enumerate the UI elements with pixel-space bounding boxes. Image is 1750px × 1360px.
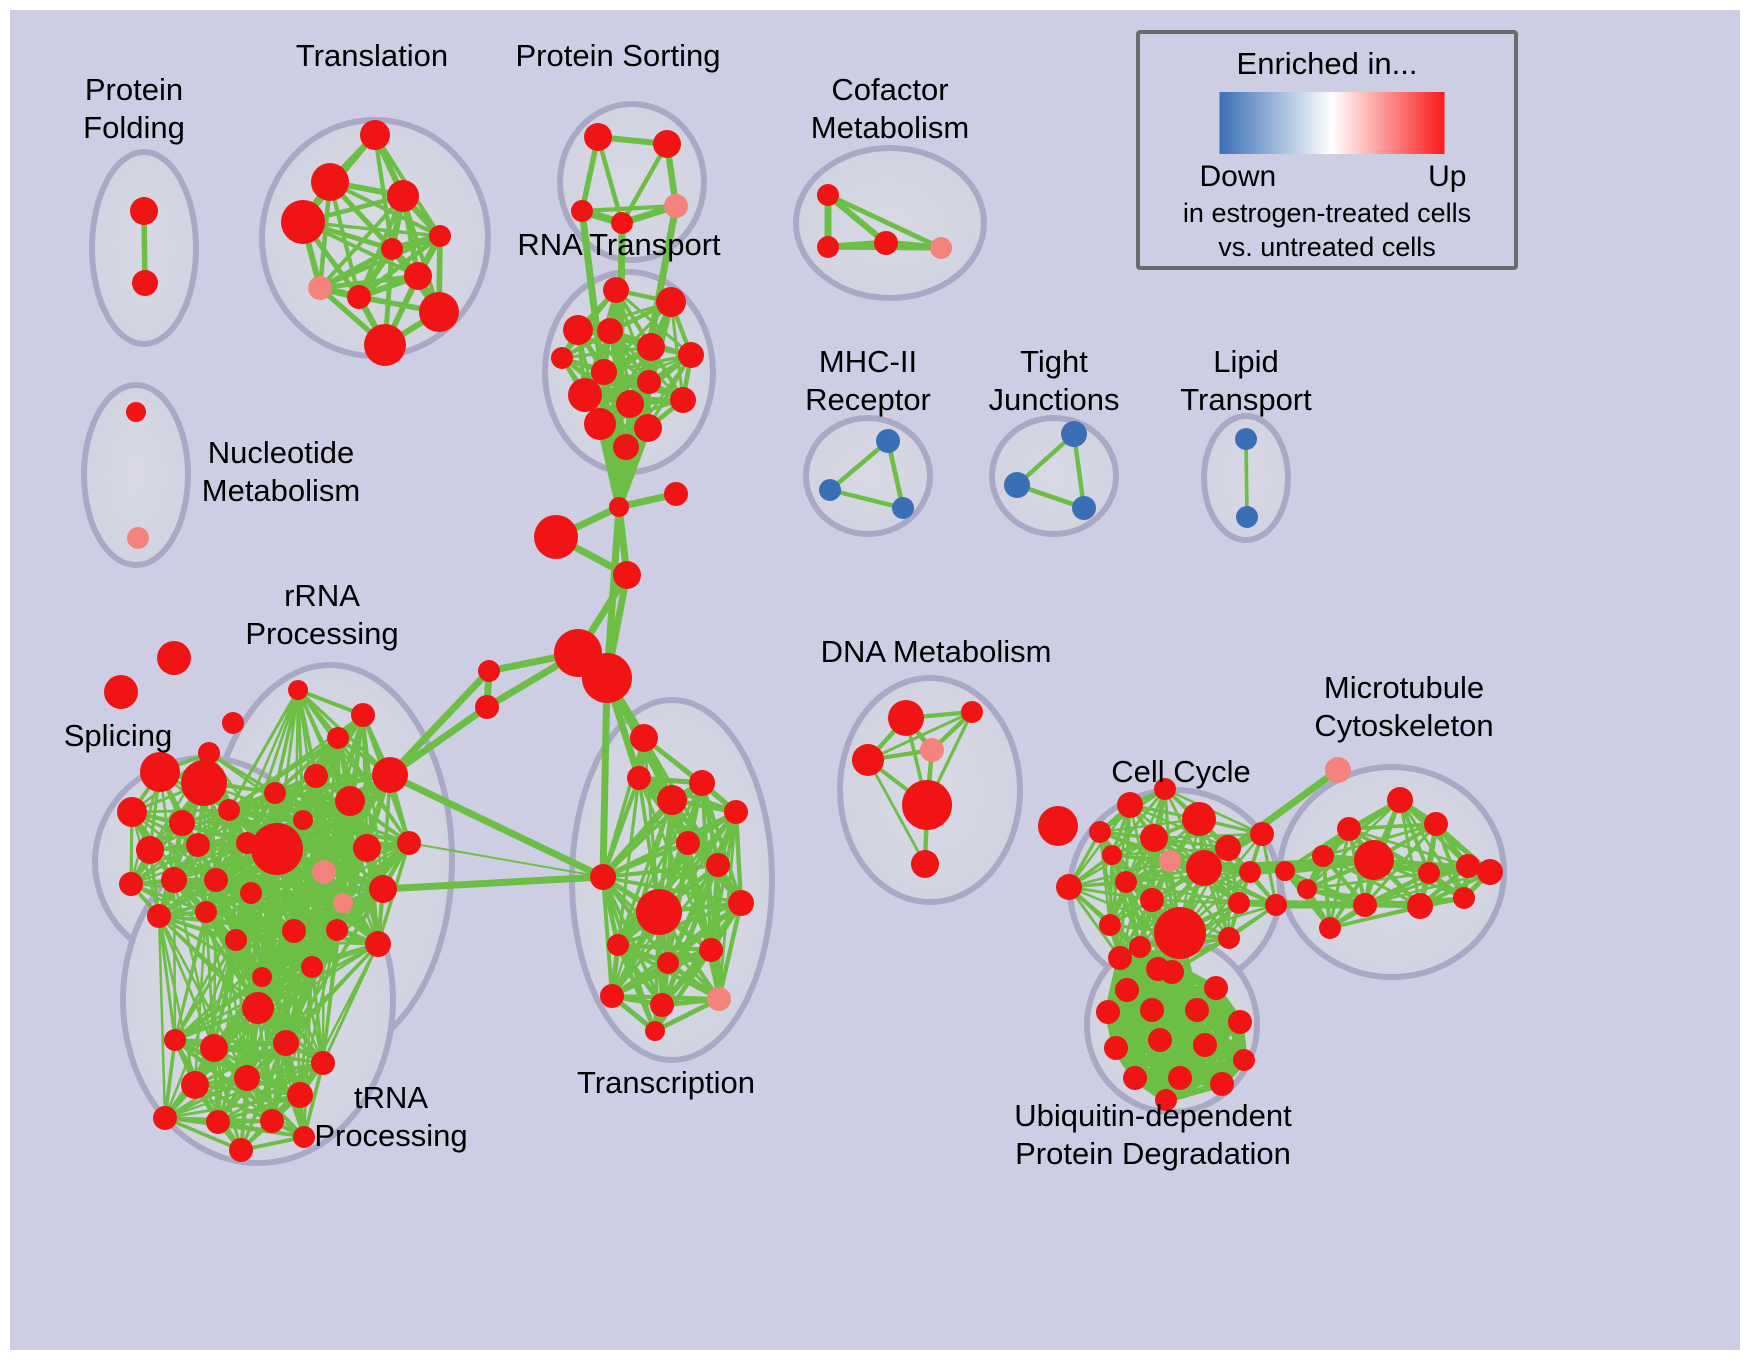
network-node (369, 875, 397, 903)
cluster-label-line: Receptor (805, 382, 931, 417)
network-node (1129, 936, 1151, 958)
network-node (1108, 946, 1132, 970)
network-node (1204, 976, 1228, 1000)
network-node (252, 967, 272, 987)
network-node (600, 984, 624, 1008)
network-node (653, 130, 681, 158)
network-node (630, 724, 658, 752)
network-node (636, 889, 682, 935)
network-node (607, 934, 629, 956)
network-node (911, 850, 939, 878)
network-node (1115, 978, 1139, 1002)
cluster-label-dna-metabolism: DNA Metabolism (821, 634, 1052, 669)
legend-low-label: Down (1200, 160, 1277, 193)
network-node (304, 764, 328, 788)
network-node (551, 347, 573, 369)
network-node (1140, 998, 1164, 1022)
network-node (664, 482, 688, 506)
network-node (1115, 871, 1137, 893)
network-node (287, 1082, 313, 1108)
network-node (706, 853, 730, 877)
network-node (1061, 421, 1087, 447)
network-node (301, 956, 323, 978)
network-edge (1246, 439, 1247, 517)
network-node (590, 864, 616, 890)
network-node (645, 1021, 665, 1041)
figure-canvas: ProteinFoldingTranslationProtein Sorting… (0, 0, 1750, 1360)
network-node (1140, 888, 1164, 912)
cluster-label-line: Cell Cycle (1111, 754, 1251, 789)
network-node (204, 868, 228, 892)
network-node (597, 318, 623, 344)
network-node (353, 834, 381, 862)
network-node (819, 479, 841, 501)
network-node (1407, 893, 1433, 919)
cluster-label-line: Transport (1180, 382, 1312, 417)
cluster-label-translation: Translation (296, 38, 448, 73)
network-node (1182, 802, 1216, 836)
network-node (1265, 894, 1287, 916)
cluster-label-line: Nucleotide (208, 435, 354, 470)
network-node (724, 800, 748, 824)
legend-gradient-bar (1220, 92, 1445, 154)
legend-subtitle-line2: vs. untreated cells (1218, 232, 1436, 262)
network-node (1456, 854, 1480, 878)
cluster-label-line: Lipid (1213, 344, 1279, 379)
network-node (637, 333, 665, 361)
network-edge (603, 678, 607, 877)
network-node (584, 123, 612, 151)
network-node (591, 359, 617, 385)
cluster-halo-mhc-ii-receptor (806, 418, 930, 534)
network-node (563, 315, 593, 345)
cluster-label-line: MHC-II (819, 344, 917, 379)
network-node (365, 931, 391, 957)
legend: Enriched in... Down Up in estrogen-treat… (1138, 32, 1516, 268)
network-node (1168, 1066, 1192, 1090)
cluster-label-line: Folding (83, 110, 185, 145)
network-node (1337, 817, 1361, 841)
network-node (657, 785, 687, 815)
network-node (1056, 874, 1082, 900)
network-node (1319, 917, 1341, 939)
network-node (1215, 835, 1241, 861)
network-node (404, 262, 432, 290)
network-node (333, 893, 353, 913)
network-node (132, 270, 158, 296)
network-node (1387, 787, 1413, 813)
network-node (1236, 506, 1258, 528)
cluster-label-cell-cycle: Cell Cycle (1111, 754, 1251, 789)
cluster-label-line: Metabolism (811, 110, 970, 145)
network-node (347, 285, 371, 309)
enrichment-network-svg: ProteinFoldingTranslationProtein Sorting… (0, 0, 1750, 1360)
network-node (568, 378, 602, 412)
network-node (650, 993, 674, 1017)
cluster-label-line: Protein (85, 72, 183, 107)
cluster-label-line: Splicing (64, 718, 173, 753)
cluster-label-line: Translation (296, 38, 448, 73)
network-node (475, 695, 499, 719)
network-node (852, 744, 884, 776)
network-node (637, 370, 661, 394)
network-node (1123, 1066, 1147, 1090)
network-node (186, 833, 210, 857)
network-node (288, 680, 308, 700)
cluster-label-line: Cytoskeleton (1314, 708, 1493, 743)
network-node (1239, 861, 1261, 883)
network-node (1453, 887, 1475, 909)
cluster-label-line: rRNA (284, 578, 360, 613)
network-node (1228, 1010, 1252, 1034)
network-node (627, 766, 651, 790)
network-node (273, 1030, 299, 1056)
network-node (634, 414, 662, 442)
network-node (153, 1106, 177, 1130)
network-node (1228, 892, 1250, 914)
network-node (664, 194, 688, 218)
network-node (1099, 914, 1121, 936)
network-node (419, 292, 459, 332)
network-node (1235, 428, 1257, 450)
network-node (260, 1109, 284, 1133)
network-node (1185, 998, 1209, 1022)
network-node (892, 497, 914, 519)
network-node (1004, 472, 1030, 498)
network-node (130, 197, 158, 225)
network-node (1210, 1072, 1234, 1096)
cluster-label-line: Protein Degradation (1015, 1136, 1291, 1171)
network-node (1297, 879, 1317, 899)
network-node (282, 919, 306, 943)
network-node (1148, 1028, 1172, 1052)
network-node (360, 120, 390, 150)
network-node (240, 882, 262, 904)
network-node (1096, 1000, 1120, 1024)
network-edge (1239, 903, 1365, 905)
network-node (351, 703, 375, 727)
network-node (326, 919, 348, 941)
cluster-label-line: Microtubule (1324, 670, 1484, 705)
network-node (657, 952, 679, 974)
network-node (225, 929, 247, 951)
network-node (1102, 845, 1122, 865)
network-node (200, 1034, 228, 1062)
network-node (364, 324, 406, 366)
network-node (689, 770, 715, 796)
network-node (387, 180, 419, 212)
network-node (140, 752, 180, 792)
network-node (164, 1029, 186, 1051)
network-node (104, 675, 138, 709)
network-node (242, 992, 274, 1024)
network-node (656, 287, 686, 317)
network-node (571, 200, 593, 222)
cluster-label-line: Cofactor (831, 72, 948, 107)
network-node (251, 823, 303, 875)
network-node (876, 429, 900, 453)
network-node (961, 701, 983, 723)
network-node (699, 938, 723, 962)
network-node (817, 184, 839, 206)
network-node (616, 390, 644, 418)
network-node (902, 780, 952, 830)
network-node (327, 727, 349, 749)
cluster-label-line: Tight (1020, 344, 1088, 379)
network-node (1325, 757, 1351, 783)
network-node (1140, 824, 1168, 852)
network-node (478, 660, 500, 682)
network-node (181, 760, 227, 806)
network-node (308, 276, 332, 300)
network-node (920, 738, 944, 762)
network-node (1312, 845, 1334, 867)
cluster-label-line: Protein Sorting (515, 38, 720, 73)
network-node (136, 836, 164, 864)
network-node (609, 497, 629, 517)
network-node (181, 1071, 209, 1099)
network-node (1160, 960, 1184, 984)
network-node (707, 987, 731, 1011)
network-node (874, 231, 898, 255)
network-node (1418, 862, 1440, 884)
network-node (206, 1110, 230, 1134)
network-node (817, 236, 839, 258)
network-node (381, 238, 403, 260)
legend-title: Enriched in... (1237, 46, 1418, 81)
network-node (603, 277, 629, 303)
network-node (1275, 861, 1295, 881)
network-node (264, 782, 286, 804)
network-node (234, 1065, 260, 1091)
network-node (1089, 821, 1111, 843)
cluster-label-line: DNA Metabolism (821, 634, 1052, 669)
network-node (147, 904, 171, 928)
network-node (888, 700, 924, 736)
network-node (1354, 840, 1394, 880)
network-node (169, 810, 195, 836)
network-node (293, 810, 313, 830)
network-node (311, 163, 349, 201)
legend-high-label: Up (1428, 160, 1466, 193)
network-node (127, 527, 149, 549)
network-node (613, 434, 639, 460)
network-node (117, 797, 147, 827)
network-node (1159, 850, 1181, 872)
network-node (1353, 893, 1377, 917)
cluster-label-line: Processing (245, 616, 398, 651)
network-node (1038, 806, 1078, 846)
cluster-label-line: Junctions (989, 382, 1120, 417)
network-node (281, 200, 325, 244)
network-node (1117, 792, 1143, 818)
cluster-label-line: RNA Transport (517, 227, 721, 262)
network-node (728, 890, 754, 916)
network-node (1250, 822, 1274, 846)
cluster-label-line: Ubiquitin-dependent (1014, 1098, 1292, 1133)
network-node (584, 408, 616, 440)
legend-subtitle-line1: in estrogen-treated cells (1183, 198, 1471, 228)
network-node (670, 387, 696, 413)
network-node (613, 561, 641, 589)
network-node (534, 515, 578, 559)
network-node (372, 757, 408, 793)
network-node (293, 1126, 315, 1148)
network-node (1193, 1033, 1217, 1057)
network-node (312, 860, 336, 884)
network-node (195, 901, 217, 923)
network-node (1154, 907, 1206, 959)
cluster-label-splicing: Splicing (64, 718, 173, 753)
network-node (126, 402, 146, 422)
network-node (157, 641, 191, 675)
cluster-label-transcription: Transcription (577, 1065, 755, 1100)
network-node (1424, 812, 1448, 836)
network-node (222, 712, 244, 734)
cluster-label-rna-transport: RNA Transport (517, 227, 721, 262)
network-node (930, 237, 952, 259)
network-node (335, 786, 365, 816)
network-node (429, 225, 451, 247)
cluster-label-protein-sorting: Protein Sorting (515, 38, 720, 73)
network-node (676, 831, 700, 855)
network-node (1186, 850, 1222, 886)
network-node (1218, 927, 1240, 949)
network-node (1477, 859, 1503, 885)
network-node (1233, 1049, 1255, 1071)
network-node (397, 831, 421, 855)
network-node (1072, 496, 1096, 520)
network-node (161, 867, 187, 893)
network-node (119, 872, 143, 896)
network-node (678, 342, 704, 368)
cluster-label-line: Transcription (577, 1065, 755, 1100)
network-node (218, 799, 240, 821)
network-node (582, 653, 632, 703)
cluster-label-line: Metabolism (202, 473, 361, 508)
network-node (229, 1138, 253, 1162)
cluster-label-line: Processing (314, 1118, 467, 1153)
network-node (1104, 1036, 1128, 1060)
cluster-label-line: tRNA (354, 1080, 428, 1115)
network-node (311, 1051, 335, 1075)
